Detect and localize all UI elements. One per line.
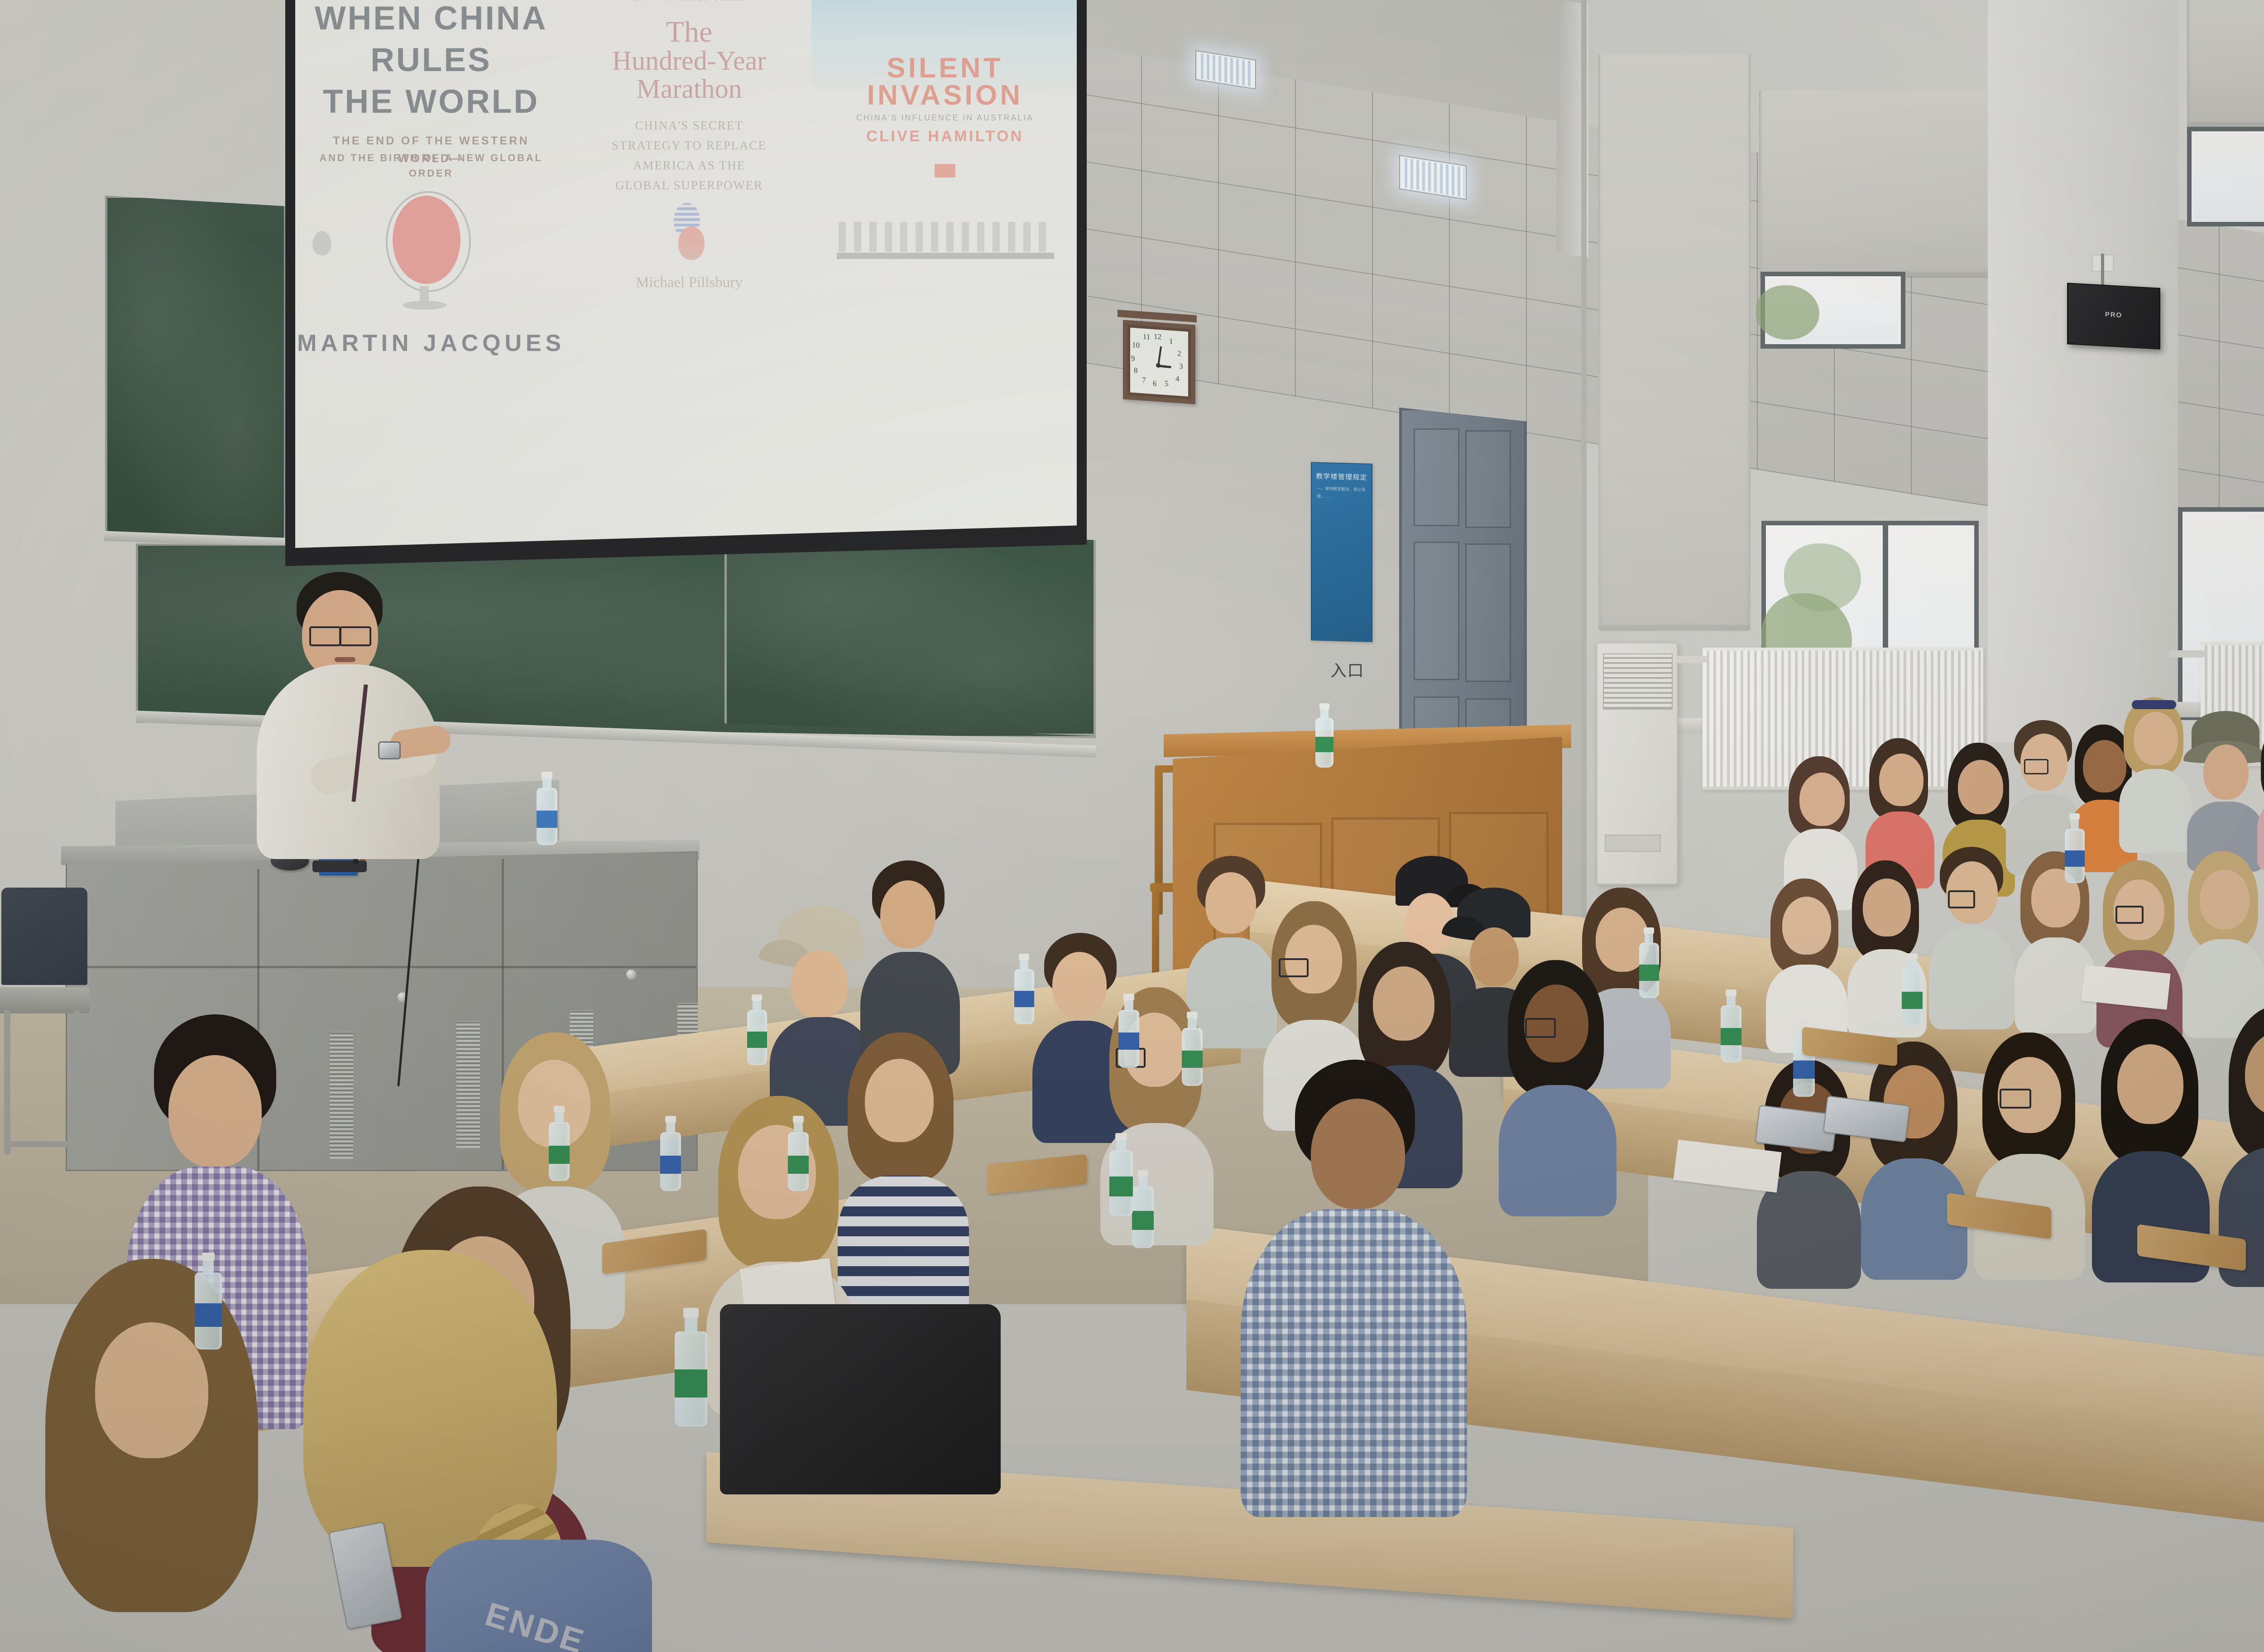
roller-blind[interactable]: [2187, 0, 2264, 127]
book3-subtitle: CHINA'S INFLUENCE IN AUSTRALIA: [811, 113, 1079, 123]
chalkboard-panel-right: [724, 528, 1096, 736]
lecturer-eyeglasses: [309, 626, 341, 646]
book3-author: CLIVE HAMILTON: [811, 128, 1079, 145]
roller-blind[interactable]: [1598, 54, 1751, 629]
water-bottle[interactable]: [1014, 969, 1034, 1024]
water-bottle[interactable]: [1721, 1005, 1741, 1062]
water-bottle[interactable]: [675, 1331, 707, 1426]
wall-corner-edge: [1581, 0, 1587, 987]
book2-title-line-1: The: [567, 17, 811, 47]
flag-egg-icon-2: [678, 226, 705, 260]
water-bottle[interactable]: [1109, 1150, 1133, 1216]
water-bottle[interactable]: [1132, 1186, 1154, 1248]
flag-icon: [935, 164, 955, 178]
student: [1241, 1060, 1467, 1513]
water-bottle[interactable]: [1902, 969, 1923, 1026]
book1-title-line-2: RULES: [295, 43, 567, 77]
book2-banner: #1 NATIONAL BESTSELLER: [567, 0, 811, 2]
wall-column: [1988, 0, 2178, 743]
wall-speaker: PRO: [2067, 283, 2160, 350]
lecture-hall-photo: WHEN CHINA RULES THE WORLD THE END OF TH…: [0, 0, 2264, 1652]
wall-clock: 12 1 2 3 4 5 6 7 8 9 10 11: [1123, 320, 1195, 404]
projection-screen: WHEN CHINA RULES THE WORLD THE END OF TH…: [295, 0, 1077, 548]
book3-title-line-1: SILENT: [811, 54, 1079, 82]
sunglasses-on-head: [2132, 700, 2176, 709]
metal-frame-chair[interactable]: [0, 888, 91, 1159]
backpack[interactable]: [720, 1304, 1001, 1494]
notice-body: 一、保持教室整洁，禁止吸烟 ……: [1317, 485, 1367, 501]
radiator-pipe: [2169, 650, 2205, 658]
ac-control-panel[interactable]: [1605, 835, 1661, 852]
parliament-base-icon: [837, 253, 1054, 259]
student: [1974, 1032, 2085, 1277]
water-bottle[interactable]: [1315, 718, 1333, 768]
water-bottle[interactable]: [747, 1010, 767, 1065]
window: [1760, 272, 1905, 349]
lecturer: [247, 568, 455, 858]
student: [838, 1032, 969, 1313]
chalkboard-panel-left: [105, 196, 286, 549]
lecturer-eyeglasses: [340, 626, 371, 646]
notice-heading: 教学楼管理规定: [1312, 471, 1372, 482]
student: [2096, 860, 2182, 1046]
book1-title-line-3: THE WORLD: [295, 85, 567, 119]
window: [2187, 127, 2264, 226]
book2-title-line-2: Hundred-Year: [567, 47, 811, 74]
book2-author: Michael Pillsbury: [567, 274, 811, 291]
student: [27, 1259, 281, 1652]
student: [2119, 697, 2192, 851]
water-bottle[interactable]: [195, 1273, 222, 1349]
speaker-brand-label: PRO: [2068, 308, 2159, 321]
water-bottle[interactable]: [537, 788, 557, 845]
book2-subtitle-line-3: AMERICA AS THE: [567, 156, 811, 176]
book2-subtitle-line-4: GLOBAL SUPERPOWER: [567, 176, 811, 196]
water-bottle[interactable]: [1182, 1028, 1203, 1086]
entrance-sign: 入口: [1330, 658, 1364, 681]
penguin-logo-icon: [312, 231, 331, 255]
radiator-pipe: [1675, 656, 1707, 663]
water-bottle[interactable]: [549, 1122, 570, 1181]
globe-sphere-icon: [393, 196, 460, 284]
book2-subtitle-line-2: STRATEGY TO REPLACE: [567, 136, 811, 156]
student: [1929, 847, 2015, 1028]
lecturer-mouth: [335, 657, 355, 662]
blue-regulations-notice: 教学楼管理规定 一、保持教室整洁，禁止吸烟 ……: [1311, 462, 1372, 642]
water-bottle[interactable]: [788, 1132, 809, 1191]
book1-author: MARTIN JACQUES: [295, 330, 567, 357]
book-cover-silent-invasion: SILENT INVASION CHINA'S INFLUENCE IN AUS…: [811, 0, 1079, 548]
water-bottle[interactable]: [1639, 943, 1659, 998]
book-cover-when-china-rules-the-world: WHEN CHINA RULES THE WORLD THE END OF TH…: [295, 0, 567, 548]
book1-subtitle-line-2: AND THE BIRTH OF A NEW GLOBAL ORDER: [302, 150, 561, 181]
water-bottle[interactable]: [660, 1132, 681, 1191]
floor-standing-air-conditioner: [1596, 642, 1678, 885]
water-bottle[interactable]: [1118, 1010, 1139, 1068]
lecturer-wristwatch: [378, 741, 401, 759]
ac-grille: [1603, 653, 1673, 710]
student: [1861, 1042, 1967, 1277]
book2-title-line-3: Marathon: [567, 75, 811, 102]
parliament-building-icon: [839, 222, 1051, 252]
student: [2187, 711, 2264, 869]
student: [2257, 720, 2264, 869]
clock-center-pin: [1156, 363, 1161, 368]
chair-back: [1, 888, 87, 985]
microphone-base: [312, 860, 367, 872]
water-bottle[interactable]: [2065, 829, 2085, 883]
cabinet-lock[interactable]: [626, 970, 636, 980]
globe-base-icon: [403, 301, 446, 310]
book1-title-line-1: WHEN CHINA: [295, 2, 567, 35]
book-cover-the-hundred-year-marathon: #1 NATIONAL BESTSELLER The Hundred-Year …: [567, 0, 811, 548]
book3-title-line-2: INVASION: [811, 82, 1079, 110]
student: [1499, 960, 1616, 1214]
book2-subtitle-line-1: CHINA'S SECRET: [567, 116, 811, 136]
